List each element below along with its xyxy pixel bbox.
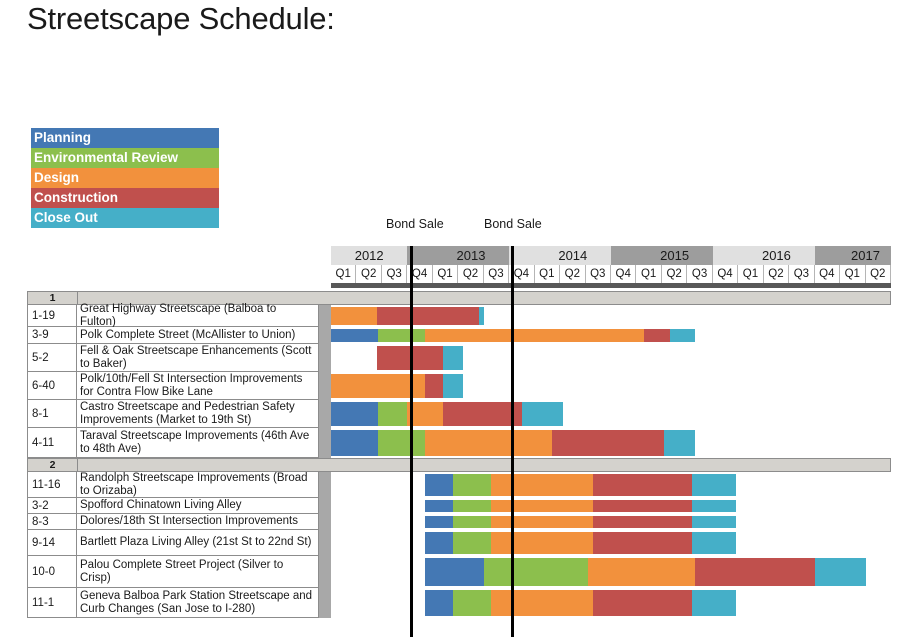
row-spacer	[319, 327, 331, 344]
quarter-cell-7: Q4	[509, 265, 534, 283]
gantt-bar-segment[interactable]	[484, 558, 588, 586]
gantt-bar-segment[interactable]	[491, 532, 593, 554]
gantt-bar-segment[interactable]	[692, 532, 735, 554]
gantt-table: 11-19Great Highway Streetscape (Balboa t…	[27, 291, 891, 618]
legend: PlanningEnvironmental ReviewDesignConstr…	[31, 128, 219, 228]
gantt-bar-segment[interactable]	[453, 500, 491, 512]
timeline-header: 201220132014201520162017 Q1Q2Q3Q4Q1Q2Q3Q…	[331, 246, 891, 283]
gantt-bar-segment[interactable]	[692, 590, 735, 616]
row-id: 10-0	[27, 556, 77, 588]
row-name: Polk Complete Street (McAllister to Unio…	[77, 327, 319, 344]
table-row[interactable]: 8-1Castro Streetscape and Pedestrian Saf…	[27, 400, 891, 428]
gantt-bar-segment[interactable]	[443, 402, 522, 426]
gantt-bar-segment[interactable]	[522, 402, 563, 426]
year-cell-10: 2017	[840, 246, 891, 265]
gantt-bar-segment[interactable]	[425, 532, 453, 554]
gantt-bar-segment[interactable]	[491, 500, 593, 512]
row-name: Geneva Balboa Park Station Streetscape a…	[77, 588, 319, 618]
row-name: Taraval Streetscape Improvements (46th A…	[77, 428, 319, 458]
table-row[interactable]: 11-16Randolph Streetscape Improvements (…	[27, 472, 891, 498]
row-name: Palou Complete Street Project (Silver to…	[77, 556, 319, 588]
gantt-bar-segment[interactable]	[378, 402, 407, 426]
row-name: Dolores/18th St Intersection Improvement…	[77, 514, 319, 530]
gantt-bar-segment[interactable]	[425, 430, 552, 456]
bond-sale-label-1: Bond Sale	[484, 217, 542, 231]
gantt-bar-segment[interactable]	[491, 474, 593, 496]
bar-track	[331, 588, 891, 618]
row-name: Bartlett Plaza Living Alley (21st St to …	[77, 530, 319, 556]
gantt-bar-segment[interactable]	[588, 558, 695, 586]
row-id: 11-1	[27, 588, 77, 618]
row-id: 9-14	[27, 530, 77, 556]
table-row[interactable]: 8-3Dolores/18th St Intersection Improvem…	[27, 514, 891, 530]
group-header-fill	[78, 459, 890, 471]
gantt-bar-segment[interactable]	[443, 346, 463, 370]
quarter-cell-5: Q2	[458, 265, 483, 283]
gantt-bar-segment[interactable]	[331, 307, 377, 325]
bar-track	[331, 305, 891, 327]
year-cell-9	[815, 246, 840, 265]
year-cell-4: 2014	[535, 246, 611, 265]
gantt-bar-segment[interactable]	[692, 500, 735, 512]
legend-item-4: Close Out	[31, 208, 219, 228]
row-name: Spofford Chinatown Living Alley	[77, 498, 319, 514]
quarter-cell-6: Q3	[484, 265, 509, 283]
gantt-bar-segment[interactable]	[453, 516, 491, 528]
year-cell-5	[611, 246, 636, 265]
gantt-bar-segment[interactable]	[425, 474, 453, 496]
gantt-bar-segment[interactable]	[491, 590, 593, 616]
quarter-band: Q1Q2Q3Q4Q1Q2Q3Q4Q1Q2Q3Q4Q1Q2Q3Q4Q1Q2Q3Q4…	[331, 265, 891, 283]
row-id: 3-2	[27, 498, 77, 514]
gantt-bar-segment[interactable]	[670, 329, 695, 342]
table-row[interactable]: 1-19Great Highway Streetscape (Balboa to…	[27, 305, 891, 327]
quarter-cell-0: Q1	[331, 265, 356, 283]
row-id: 6-40	[27, 372, 77, 400]
gantt-bar-segment[interactable]	[593, 590, 692, 616]
gantt-bar-segment[interactable]	[377, 346, 443, 370]
row-spacer	[319, 556, 331, 588]
row-name: Fell & Oak Streetscape Enhancements (Sco…	[77, 344, 319, 372]
quarter-cell-9: Q2	[560, 265, 585, 283]
gantt-bar-segment[interactable]	[425, 558, 484, 586]
bond-sale-label-0: Bond Sale	[386, 217, 444, 231]
group-number: 1	[28, 292, 78, 304]
gantt-bar-segment[interactable]	[453, 532, 491, 554]
quarter-cell-21: Q2	[866, 265, 891, 283]
gantt-bar-segment[interactable]	[692, 516, 735, 528]
quarter-cell-2: Q3	[382, 265, 407, 283]
row-spacer	[319, 305, 331, 327]
gantt-bar-segment[interactable]	[331, 430, 378, 456]
row-id: 8-1	[27, 400, 77, 428]
quarter-cell-17: Q2	[764, 265, 789, 283]
row-id: 5-2	[27, 344, 77, 372]
gantt-bar-segment[interactable]	[593, 516, 692, 528]
year-cell-8: 2016	[738, 246, 814, 265]
bar-track	[331, 372, 891, 400]
gantt-bar-segment[interactable]	[378, 430, 425, 456]
gantt-bar-segment[interactable]	[479, 307, 484, 325]
row-name: Randolph Streetscape Improvements (Broad…	[77, 472, 319, 498]
quarter-cell-10: Q3	[586, 265, 611, 283]
quarter-cell-14: Q3	[687, 265, 712, 283]
bar-track	[331, 428, 891, 458]
row-spacer	[319, 400, 331, 428]
bar-track	[331, 327, 891, 344]
row-spacer	[319, 530, 331, 556]
table-row[interactable]: 4-11Taraval Streetscape Improvements (46…	[27, 428, 891, 458]
row-id: 3-9	[27, 327, 77, 344]
bar-track	[331, 400, 891, 428]
gantt-bar-segment[interactable]	[443, 374, 463, 398]
year-cell-7	[713, 246, 738, 265]
gantt-bar-segment[interactable]	[331, 329, 378, 342]
gantt-bar-segment[interactable]	[425, 329, 644, 342]
row-spacer	[319, 428, 331, 458]
year-cell-3	[509, 246, 534, 265]
gantt-bar-segment[interactable]	[453, 590, 491, 616]
quarter-cell-8: Q1	[535, 265, 560, 283]
quarter-cell-18: Q3	[789, 265, 814, 283]
year-cell-0: 2012	[331, 246, 407, 265]
header-rule	[331, 283, 891, 288]
bar-track	[331, 514, 891, 530]
gantt-bar-segment[interactable]	[491, 516, 593, 528]
quarter-cell-3: Q4	[407, 265, 432, 283]
row-spacer	[319, 514, 331, 530]
bar-track	[331, 556, 891, 588]
row-name: Polk/10th/Fell St Intersection Improveme…	[77, 372, 319, 400]
row-spacer	[319, 344, 331, 372]
gantt-bar-segment[interactable]	[593, 532, 692, 554]
table-row[interactable]: 3-2Spofford Chinatown Living Alley	[27, 498, 891, 514]
table-row[interactable]: 3-9Polk Complete Street (McAllister to U…	[27, 327, 891, 344]
table-row[interactable]: 6-40Polk/10th/Fell St Intersection Impro…	[27, 372, 891, 400]
gantt-bar-segment[interactable]	[425, 500, 453, 512]
table-row[interactable]: 9-14Bartlett Plaza Living Alley (21st St…	[27, 530, 891, 556]
legend-item-1: Environmental Review	[31, 148, 219, 168]
gantt-bar-segment[interactable]	[425, 374, 443, 398]
bar-track	[331, 498, 891, 514]
year-band: 201220132014201520162017	[331, 246, 891, 265]
gantt-bar-segment[interactable]	[695, 558, 815, 586]
page-title: Streetscape Schedule:	[27, 1, 335, 37]
year-cell-1	[407, 246, 432, 265]
gantt-bar-segment[interactable]	[377, 307, 479, 325]
legend-item-0: Planning	[31, 128, 219, 148]
legend-item-2: Design	[31, 168, 219, 188]
row-spacer	[319, 372, 331, 400]
quarter-cell-12: Q1	[636, 265, 661, 283]
gantt-bar-segment[interactable]	[552, 430, 664, 456]
gantt-bar-segment[interactable]	[593, 500, 692, 512]
table-row[interactable]: 5-2Fell & Oak Streetscape Enhancements (…	[27, 344, 891, 372]
row-id: 1-19	[27, 305, 77, 327]
quarter-cell-13: Q2	[662, 265, 687, 283]
year-cell-2: 2013	[433, 246, 509, 265]
bar-track	[331, 472, 891, 498]
quarter-cell-4: Q1	[433, 265, 458, 283]
quarter-cell-1: Q2	[356, 265, 381, 283]
row-id: 4-11	[27, 428, 77, 458]
gantt-bar-segment[interactable]	[692, 474, 735, 496]
row-spacer	[319, 588, 331, 618]
bar-track	[331, 344, 891, 372]
gantt-bar-segment[interactable]	[331, 374, 425, 398]
row-spacer	[319, 472, 331, 498]
table-row[interactable]: 10-0Palou Complete Street Project (Silve…	[27, 556, 891, 588]
year-cell-6: 2015	[636, 246, 712, 265]
gantt-bar-segment[interactable]	[378, 329, 425, 342]
quarter-cell-20: Q1	[840, 265, 865, 283]
bar-track	[331, 530, 891, 556]
gantt-bar-segment[interactable]	[593, 474, 692, 496]
row-id: 11-16	[27, 472, 77, 498]
quarter-cell-16: Q1	[738, 265, 763, 283]
gantt-bar-segment[interactable]	[664, 430, 695, 456]
row-name: Great Highway Streetscape (Balboa to Ful…	[77, 305, 319, 327]
gantt-bar-segment[interactable]	[331, 402, 378, 426]
table-row[interactable]: 11-1Geneva Balboa Park Station Streetsca…	[27, 588, 891, 618]
gantt-bar-segment[interactable]	[453, 474, 491, 496]
legend-item-3: Construction	[31, 188, 219, 208]
gantt-bar-segment[interactable]	[815, 558, 866, 586]
quarter-cell-19: Q4	[815, 265, 840, 283]
group-number: 2	[28, 459, 78, 471]
gantt-bar-segment[interactable]	[425, 590, 453, 616]
quarter-cell-11: Q4	[611, 265, 636, 283]
gantt-bar-segment[interactable]	[644, 329, 669, 342]
row-name: Castro Streetscape and Pedestrian Safety…	[77, 400, 319, 428]
gantt-bar-segment[interactable]	[425, 516, 453, 528]
row-spacer	[319, 498, 331, 514]
row-id: 8-3	[27, 514, 77, 530]
gantt-bar-segment[interactable]	[407, 402, 443, 426]
quarter-cell-15: Q4	[713, 265, 738, 283]
group-header-2: 2	[27, 458, 891, 472]
